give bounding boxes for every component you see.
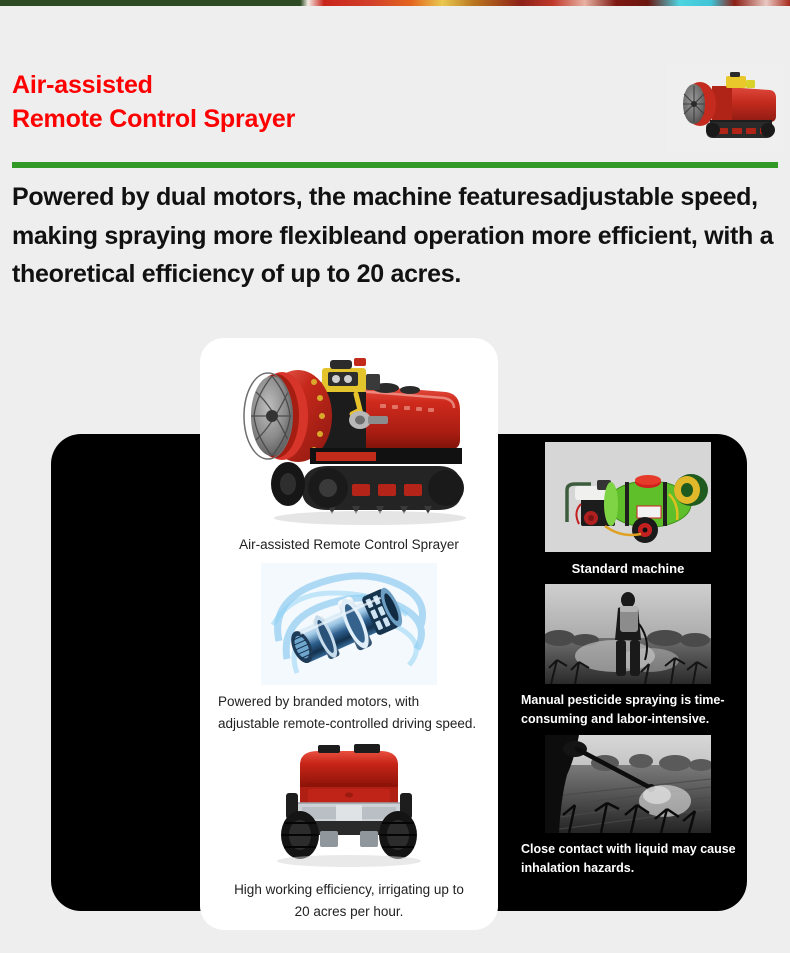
comparison-caption: Manual pesticide spraying is time-consum… bbox=[517, 691, 739, 729]
feature-caption: High working efficiency, irrigating up t… bbox=[200, 879, 498, 923]
feature-caption: Air-assisted Remote Control Sprayer bbox=[200, 534, 498, 556]
comparison-item: Close contact with liquid may cause inha… bbox=[517, 735, 739, 878]
feature-card: Air-assisted Remote Control Sprayer bbox=[200, 338, 498, 930]
feature-item: High working efficiency, irrigating up t… bbox=[200, 743, 498, 923]
feature-caption: Powered by branded motors, with adjustab… bbox=[200, 691, 498, 735]
comparison-caption: Standard machine bbox=[517, 559, 739, 578]
red-sprayer-rear-view-photo bbox=[200, 743, 498, 873]
page-title: Air-assisted Remote Control Sprayer bbox=[12, 68, 295, 136]
intro-paragraph: Powered by dual motors, the machine feat… bbox=[12, 178, 780, 294]
header-divider bbox=[12, 162, 778, 168]
manual-backpack-spraying-photo bbox=[517, 584, 739, 684]
header-product-thumbnail bbox=[666, 64, 784, 152]
feature-item: Air-assisted Remote Control Sprayer bbox=[200, 348, 498, 556]
green-standard-cart-sprayer-photo bbox=[517, 442, 739, 552]
page-header: Air-assisted Remote Control Sprayer bbox=[0, 6, 790, 156]
product-detail-page: Air-assisted Remote Control Sprayer bbox=[0, 0, 790, 953]
hand-spraying-crops-closeup-photo bbox=[517, 735, 739, 833]
page-title-line-2: Remote Control Sprayer bbox=[12, 102, 295, 136]
comparison-column: Standard machine bbox=[517, 442, 739, 884]
comparison-item: Manual pesticide spraying is time-consum… bbox=[517, 584, 739, 729]
page-title-line-1: Air-assisted bbox=[12, 68, 295, 102]
comparison-item: Standard machine bbox=[517, 442, 739, 578]
comparison-caption: Close contact with liquid may cause inha… bbox=[517, 840, 739, 878]
blue-branded-motor-bearing-photo bbox=[200, 563, 498, 685]
feature-item: Powered by branded motors, with adjustab… bbox=[200, 563, 498, 735]
red-tracked-air-assisted-sprayer-photo bbox=[200, 348, 498, 528]
